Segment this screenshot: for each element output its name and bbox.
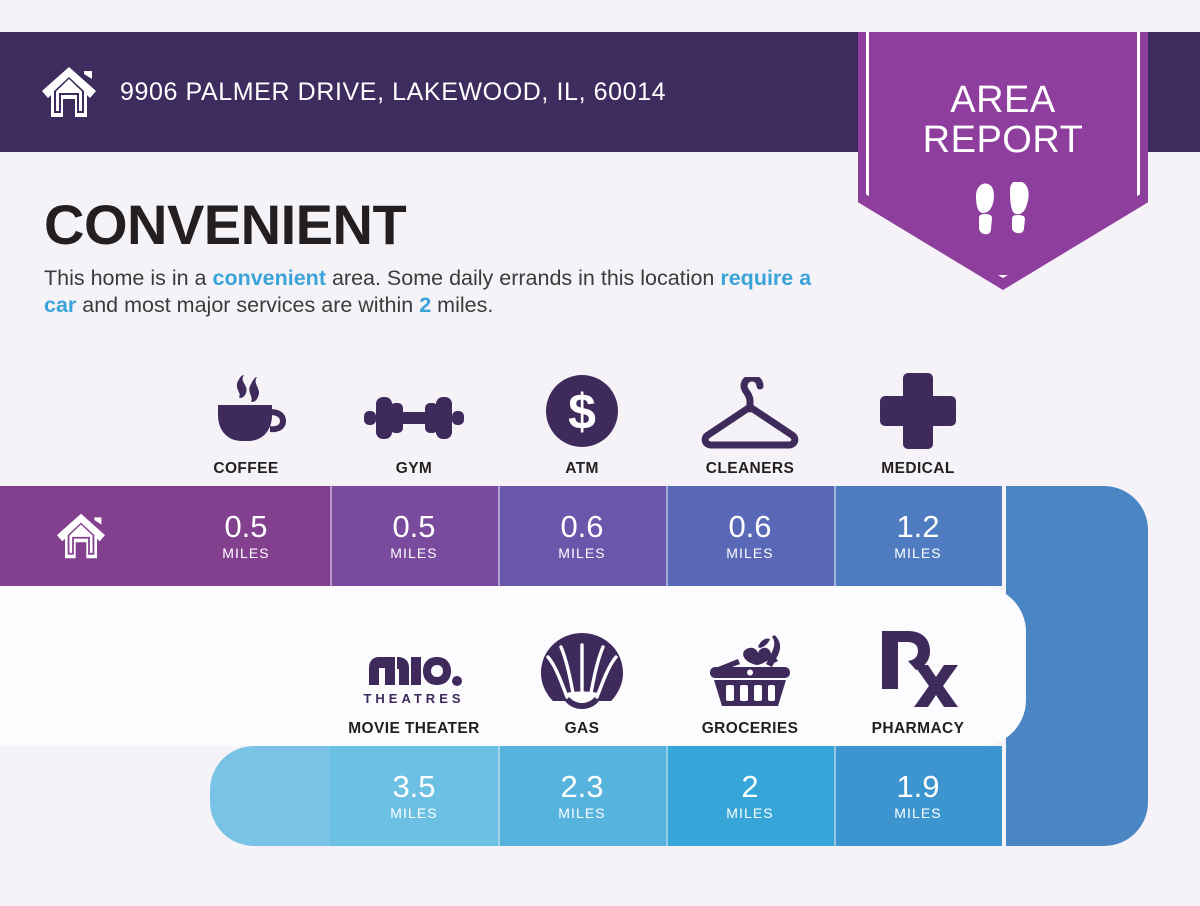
distance-units: MILES — [894, 545, 942, 561]
distance-cell-atm: 0.6 MILES — [498, 486, 666, 586]
amenity-gym: GYM — [330, 358, 498, 478]
distance-value: 0.5 — [392, 511, 435, 542]
svg-text:THEATRES: THEATRES — [363, 691, 464, 706]
home-icon — [40, 65, 98, 119]
amenity-label: PHARMACY — [872, 720, 965, 738]
home-icon — [55, 512, 107, 560]
area-report-badge: AREA REPORT — [858, 32, 1148, 290]
property-address: 9906 PALMER DRIVE, LAKEWOOD, IL, 60014 — [120, 78, 666, 107]
desc-part-1: This home is in a — [44, 266, 212, 290]
page-title: CONVENIENT — [44, 192, 406, 257]
home-marker-cell — [0, 486, 162, 586]
desc-highlight-miles: 2 — [419, 293, 431, 317]
rx-icon — [878, 629, 958, 709]
distance-cell-medical: 1.2 MILES — [834, 486, 1002, 586]
coffee-cup-icon — [206, 369, 286, 449]
distance-value: 0.6 — [728, 511, 771, 542]
distance-value: 3.5 — [392, 771, 435, 802]
distance-units: MILES — [894, 805, 942, 821]
distance-cell-movie-theater: 3.5 MILES — [330, 746, 498, 846]
badge-title-line2: REPORT — [858, 120, 1148, 160]
amenity-label: MEDICAL — [881, 460, 954, 478]
medical-cross-icon — [880, 369, 956, 449]
amenity-label: MOVIE THEATER — [348, 720, 480, 738]
distance-units: MILES — [726, 545, 774, 561]
amenity-groceries: GROCERIES — [666, 618, 834, 738]
distance-units: MILES — [558, 545, 606, 561]
amenity-pharmacy: PHARMACY — [834, 618, 1002, 738]
desc-part-3: and most major services are within — [76, 293, 419, 317]
footprints-icon — [858, 182, 1148, 253]
svg-text:$: $ — [568, 384, 596, 440]
distance-units: MILES — [726, 805, 774, 821]
distance-units: MILES — [222, 545, 270, 561]
amenity-label: ATM — [565, 460, 599, 478]
distance-cell-groceries: 2 MILES — [666, 746, 834, 846]
grocery-basket-icon — [704, 629, 796, 709]
amc-theatres-logo: THEATRES — [359, 629, 469, 709]
summary-description: This home is in a convenient area. Some … — [44, 265, 834, 319]
badge-title: AREA REPORT — [858, 80, 1148, 160]
amenity-coffee: COFFEE — [162, 358, 330, 478]
shell-logo — [541, 629, 623, 709]
dollar-circle-icon: $ — [544, 369, 620, 449]
amenity-movie-theater: THEATRES MOVIE THEATER — [330, 618, 498, 738]
amenity-gas: GAS — [498, 618, 666, 738]
header-content: 9906 PALMER DRIVE, LAKEWOOD, IL, 60014 — [40, 32, 666, 152]
distance-value: 2 — [741, 771, 758, 802]
clothes-hanger-icon — [698, 369, 802, 449]
amenity-atm: $ ATM — [498, 358, 666, 478]
distance-value: 1.9 — [896, 771, 939, 802]
distance-value: 1.2 — [896, 511, 939, 542]
distance-units: MILES — [558, 805, 606, 821]
amenity-medical: MEDICAL — [834, 358, 1002, 478]
distance-units: MILES — [390, 545, 438, 561]
distance-cell-coffee: 0.5 MILES — [162, 486, 330, 586]
distance-value: 0.6 — [560, 511, 603, 542]
distance-value: 0.5 — [224, 511, 267, 542]
desc-highlight-convenient: convenient — [212, 266, 326, 290]
desc-part-4: miles. — [431, 293, 493, 317]
dumbbell-icon — [364, 369, 464, 449]
amenity-icon-row-1: COFFEE GYM — [162, 358, 1172, 478]
distance-cell-pharmacy: 1.9 MILES — [834, 746, 1002, 846]
distance-cell-cleaners: 0.6 MILES — [666, 486, 834, 586]
badge-title-line1: AREA — [858, 80, 1148, 120]
amenity-label: COFFEE — [213, 460, 278, 478]
infographic-canvas: 9906 PALMER DRIVE, LAKEWOOD, IL, 60014 A… — [0, 0, 1200, 900]
bottom-white-panel — [310, 846, 1200, 906]
amenity-label: CLEANERS — [706, 460, 794, 478]
distance-bar-row-2: 3.5 MILES 2.3 MILES 2 MILES 1.9 MILES — [210, 746, 1002, 846]
distance-bar-row-1: 0.5 MILES 0.5 MILES 0.6 MILES 0.6 MILES … — [0, 486, 1002, 586]
desc-part-2: area. Some daily errands in this locatio… — [326, 266, 720, 290]
amenity-cleaners: CLEANERS — [666, 358, 834, 478]
distance-cell-gas: 2.3 MILES — [498, 746, 666, 846]
distance-cell-gym: 0.5 MILES — [330, 486, 498, 586]
amenity-label: GROCERIES — [702, 720, 799, 738]
amenity-label: GYM — [396, 460, 433, 478]
amenity-icon-row-2: THEATRES MOVIE THEATER — [330, 618, 1170, 738]
bar-head-cap — [210, 746, 330, 846]
distance-units: MILES — [390, 805, 438, 821]
amenity-label: GAS — [565, 720, 600, 738]
distance-value: 2.3 — [560, 771, 603, 802]
